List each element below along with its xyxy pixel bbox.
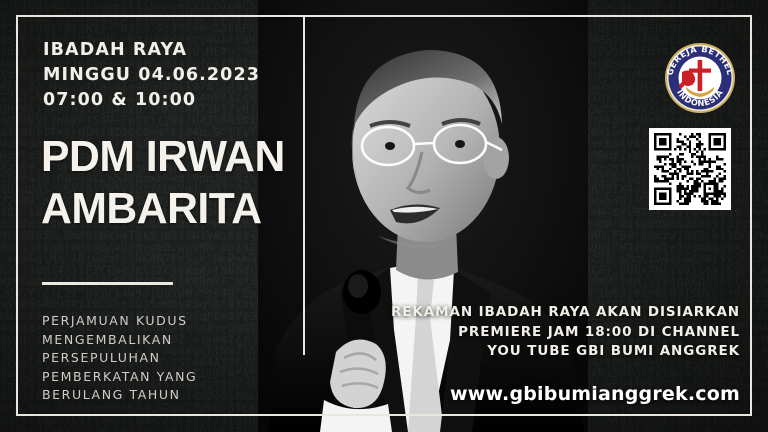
announcement-line-1: REKAMAN IBADAH RAYA AKAN DISIARKAN [391, 303, 740, 323]
header-line-1: IBADAH RAYA [43, 38, 260, 63]
header-line-3: 07:00 & 10:00 [43, 88, 260, 113]
vertical-divider [303, 15, 305, 355]
gbi-church-logo: GEREJA BETHEL INDONESIA [664, 42, 736, 114]
service-topics-list: PERJAMUAN KUDUSMENGEMBALIKANPERSEPULUHAN… [42, 312, 197, 405]
speaker-name-line-1: PDM IRWAN [41, 131, 285, 183]
announcement-line-2: PREMIERE JAM 18:00 DI CHANNEL [391, 323, 740, 343]
topic-item: PERSEPULUHAN [42, 349, 197, 368]
speaker-photo [258, 0, 588, 432]
service-header: IBADAH RAYA MINGGU 04.06.2023 07:00 & 10… [43, 38, 260, 113]
topic-item: PERJAMUAN KUDUS [42, 312, 197, 331]
topic-item: PEMBERKATAN YANG [42, 368, 197, 387]
announcement-line-3: YOU TUBE GBI BUMI ANGGREK [391, 342, 740, 362]
speaker-name-line-2: AMBARITA [41, 183, 285, 235]
header-line-2: MINGGU 04.06.2023 [43, 63, 260, 88]
qr-code[interactable] [649, 128, 731, 210]
broadcast-announcement: REKAMAN IBADAH RAYA AKAN DISIARKAN PREMI… [391, 303, 740, 362]
divider-rule [42, 282, 173, 285]
speaker-name: PDM IRWAN AMBARITA [41, 131, 285, 235]
website-url[interactable]: www.gbibumianggrek.com [450, 383, 740, 405]
poster-canvas: <3D{N0l4Q!;iES>eeTtt(&hx+eXX]Ep)e6C$0-t*… [0, 0, 768, 432]
topic-item: MENGEMBALIKAN [42, 331, 197, 350]
topic-item: BERULANG TAHUN [42, 386, 197, 405]
